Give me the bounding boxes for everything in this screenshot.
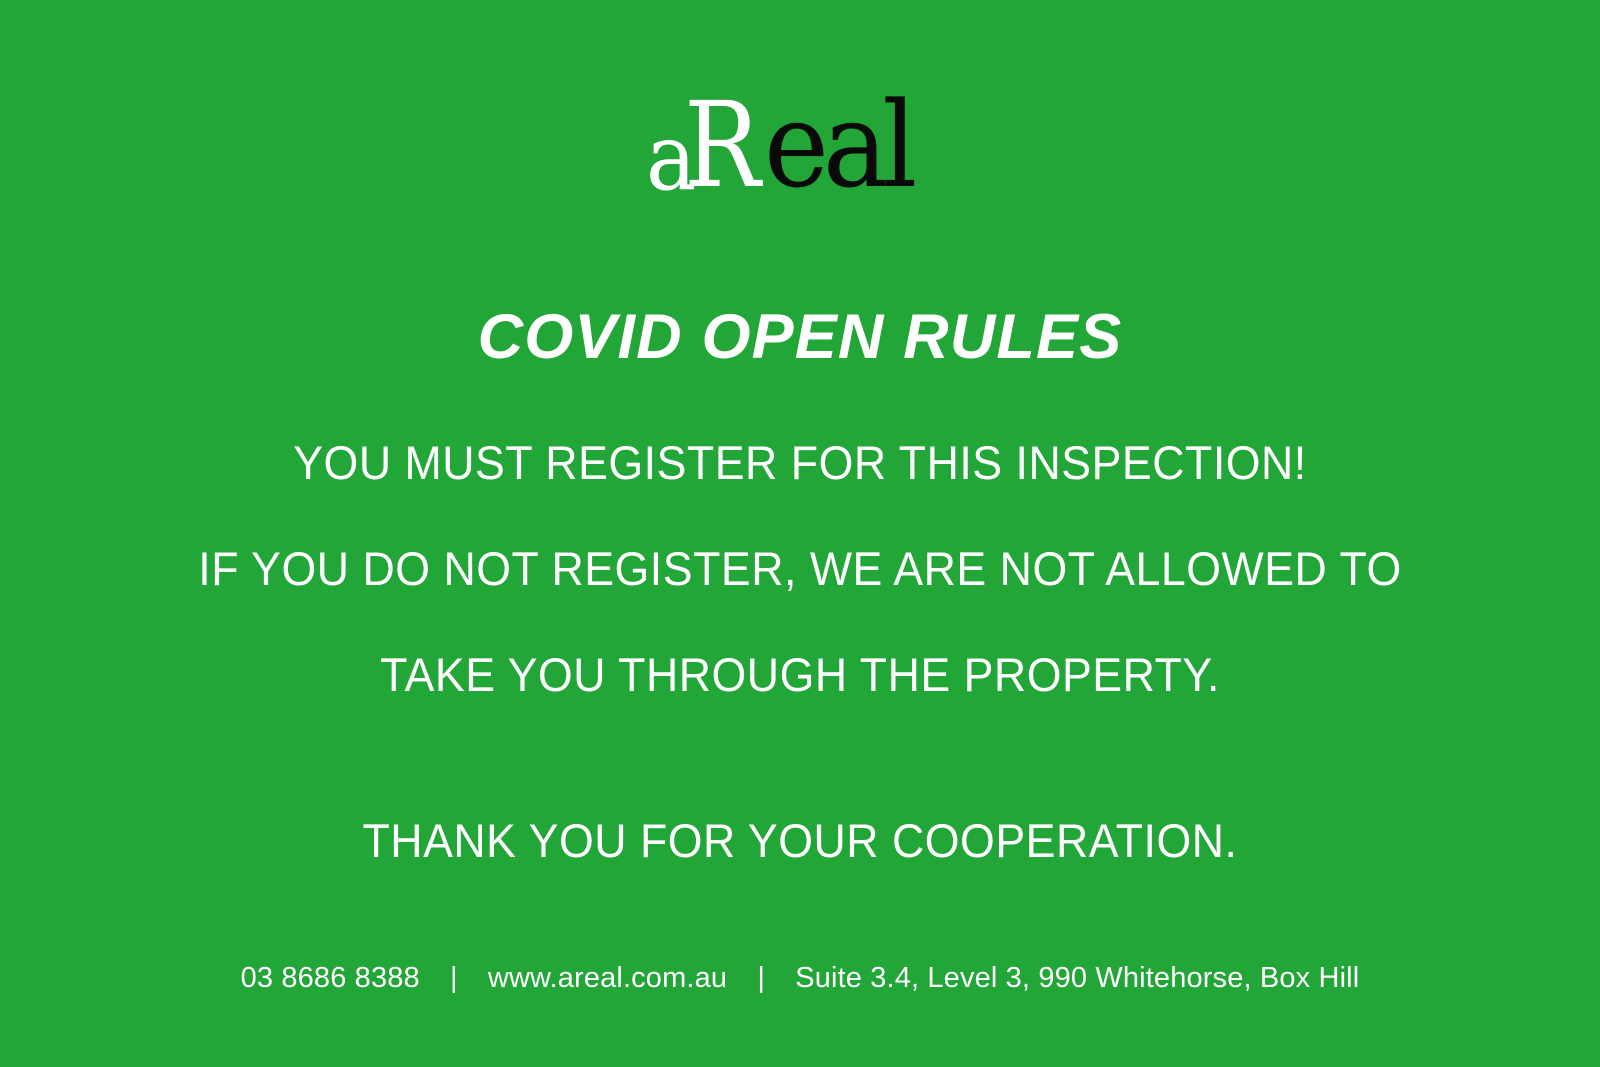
footer-website[interactable]: www.areal.com.au bbox=[488, 962, 727, 995]
notice-body: YOU MUST REGISTER FOR THIS INSPECTION! I… bbox=[0, 410, 1600, 894]
footer-phone: 03 8686 8388 bbox=[241, 962, 420, 995]
notice-line-3: TAKE YOU THROUGH THE PROPERTY. bbox=[40, 622, 1560, 728]
logo-letter-r: R bbox=[684, 86, 756, 204]
notice-line-spacer bbox=[40, 728, 1560, 788]
logo-wordmark: aReal a R eal bbox=[646, 80, 954, 204]
notice-line-4: THANK YOU FOR YOUR COOPERATION. bbox=[40, 788, 1560, 894]
footer-separator-2: | bbox=[735, 962, 787, 995]
logo-letters-eal: eal bbox=[764, 86, 911, 204]
brand-logo: aReal a R eal bbox=[0, 74, 1600, 204]
notice-line-2: IF YOU DO NOT REGISTER, WE ARE NOT ALLOW… bbox=[40, 516, 1560, 622]
footer-address: Suite 3.4, Level 3, 990 Whitehorse, Box … bbox=[795, 962, 1359, 995]
footer-separator-1: | bbox=[428, 962, 480, 995]
page-title: COVID OPEN RULES bbox=[0, 306, 1600, 369]
poster-canvas: aReal a R eal COVID OPEN RULES YOU MUST … bbox=[0, 0, 1600, 1067]
notice-line-1: YOU MUST REGISTER FOR THIS INSPECTION! bbox=[40, 410, 1560, 516]
contact-footer: 03 8686 8388 | www.areal.com.au | Suite … bbox=[0, 962, 1600, 995]
